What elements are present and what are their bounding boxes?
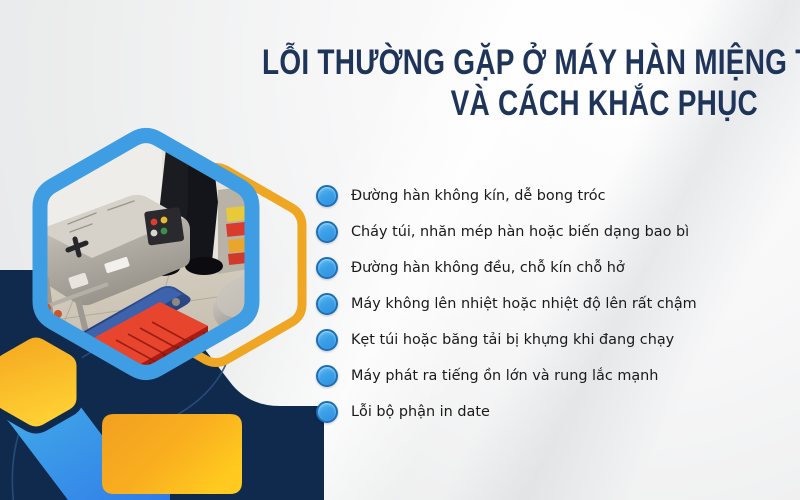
list-item-label: Cháy túi, nhăn mép hàn hoặc biến dạng ba… bbox=[351, 223, 689, 241]
list-item: Đường hàn không kín, dễ bong tróc bbox=[316, 178, 792, 214]
orange-rounded-rect bbox=[102, 414, 242, 494]
bullet-circle-icon bbox=[316, 293, 338, 315]
title-line-1: LỖI THƯỜNG GẶP Ở MÁY HÀN MIỆNG TÚI LIÊN … bbox=[262, 42, 758, 83]
list-item-label: Đường hàn không đều, chỗ kín chỗ hở bbox=[351, 259, 625, 277]
bullet-circle-icon bbox=[316, 401, 338, 423]
list-item: Máy phát ra tiếng ồn lớn và rung lắc mạn… bbox=[316, 358, 792, 394]
bullet-circle-icon bbox=[316, 221, 338, 243]
bullet-circle-icon bbox=[316, 365, 338, 387]
list-item-label: Máy không lên nhiệt hoặc nhiệt độ lên rấ… bbox=[351, 295, 697, 313]
bullet-circle-icon bbox=[316, 329, 338, 351]
list-item-label: Kẹt túi hoặc băng tải bị khựng khi đang … bbox=[351, 331, 674, 349]
poster-canvas: LỖI THƯỜNG GẶP Ở MÁY HÀN MIỆNG TÚI LIÊN … bbox=[0, 0, 800, 500]
title-line-2: VÀ CÁCH KHẮC PHỤC bbox=[262, 83, 758, 124]
list-item: Máy không lên nhiệt hoặc nhiệt độ lên rấ… bbox=[316, 286, 792, 322]
error-list: Đường hàn không kín, dễ bong tróc Cháy t… bbox=[316, 178, 792, 430]
list-item: Lỗi bộ phận in date bbox=[316, 394, 792, 430]
list-item: Kẹt túi hoặc băng tải bị khựng khi đang … bbox=[316, 322, 792, 358]
hexagon-photo-frame bbox=[12, 112, 280, 412]
list-item: Đường hàn không đều, chỗ kín chỗ hở bbox=[316, 250, 792, 286]
bullet-circle-icon bbox=[316, 257, 338, 279]
list-item-label: Lỗi bộ phận in date bbox=[351, 403, 490, 421]
list-item-label: Máy phát ra tiếng ồn lớn và rung lắc mạn… bbox=[351, 367, 658, 385]
list-item: Cháy túi, nhăn mép hàn hoặc biến dạng ba… bbox=[316, 214, 792, 250]
list-item-label: Đường hàn không kín, dễ bong tróc bbox=[351, 187, 606, 205]
bullet-circle-icon bbox=[316, 185, 338, 207]
